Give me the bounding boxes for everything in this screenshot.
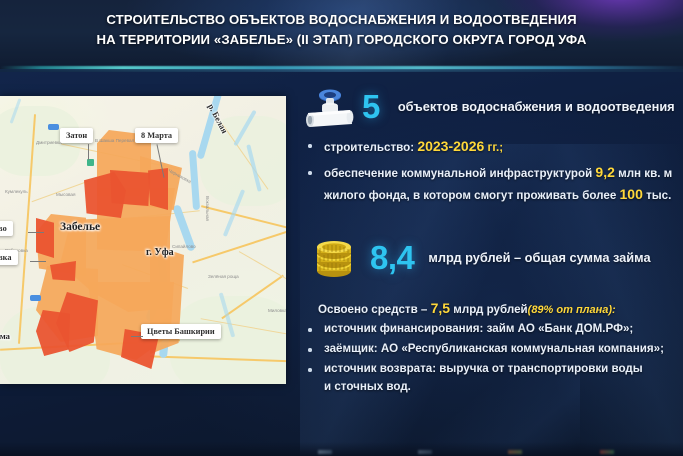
bullet-funding-source: источник финансирования: займ АО «Банк Д…: [324, 322, 633, 335]
map-minor-label: Сипайлово: [172, 244, 196, 249]
bullet-marker: [308, 328, 312, 332]
map-image: Дмитриевка В Шакша Перевал Кумлекуль Мыс…: [0, 96, 286, 384]
bullet-housing-value: 100: [620, 186, 643, 202]
map-minor-label: Дмитриевка: [36, 140, 62, 145]
bullet-borrower: заёмщик: АО «Республиканская коммунальна…: [324, 342, 664, 355]
map-minor-label: Вокзальная: [205, 196, 210, 221]
bullet-marker: [308, 171, 312, 175]
map-minor-label: В Шакша Перевал: [95, 138, 134, 143]
funds-released-value: 7,5: [431, 300, 450, 316]
funds-released-pre: Освоено средств –: [318, 303, 431, 316]
content-panel: 5 объектов водоснабжения и водоотведения…: [292, 78, 683, 456]
stat-loan-value: 8,4: [370, 241, 414, 274]
bullet-infrastructure-value: 9,2: [595, 164, 614, 180]
bullet-repayment-source-line2: и сточных вод.: [324, 380, 411, 393]
bullet-construction-post: гг.;: [484, 141, 503, 154]
video-artifact: [600, 450, 614, 454]
slide-header: СТРОИТЕЛЬСТВО ОБЪЕКТОВ ВОДОСНАБЖЕНИЯ И В…: [0, 0, 683, 72]
map-callout-zaton: Затон: [60, 128, 93, 143]
map-place-label-dyoma: ёма: [0, 331, 10, 341]
map-marker-green: [87, 159, 94, 166]
map-minor-label: Миловка: [268, 308, 286, 313]
coin-stack-icon: [312, 241, 356, 281]
map-callout-nikovo: никово: [0, 221, 13, 236]
page-title: СТРОИТЕЛЬСТВО ОБЪЕКТОВ ВОДОСНАБЖЕНИЯ И В…: [0, 10, 683, 50]
bottom-fade: [0, 442, 683, 456]
map-route-badge: [48, 124, 59, 130]
stat-loan-label: млрд рублей – общая сумма займа: [428, 250, 650, 265]
video-artifact: [318, 450, 332, 454]
stat-objects-label: объектов водоснабжения и водоотведения: [398, 99, 675, 114]
map-callout-leader: [131, 336, 143, 337]
bullet-housing-pre: жилого фонда, в котором смогут проживать…: [324, 189, 620, 202]
bullet-infrastructure-post: млн кв. м: [615, 167, 672, 180]
map-minor-label: Мысовая: [56, 192, 75, 197]
funds-released-note: (89% от плана):: [528, 304, 616, 316]
bullet-marker: [308, 144, 312, 148]
bullet-infrastructure-pre: обеспечение коммунальной инфраструктурой: [324, 167, 595, 180]
map-route-badge: [30, 295, 41, 301]
map-place-label-ufa: г. Уфа: [146, 247, 174, 258]
map-callout-leader: [30, 261, 46, 262]
map-callout-leader: [88, 144, 89, 160]
stat-objects: 5 объектов водоснабжения и водоотведения: [362, 90, 675, 123]
bullet-marker: [308, 348, 312, 352]
funds-released-line: Освоено средств – 7,5 млрд рублей(89% от…: [318, 300, 616, 316]
bullet-construction-pre: строительство:: [324, 141, 417, 154]
map-minor-label: Кумлекуль: [5, 189, 28, 194]
bullet-construction-value: 2023-2026: [417, 138, 484, 154]
stat-objects-value: 5: [362, 90, 380, 123]
water-pipe-valve-icon: [300, 88, 358, 132]
map-zone-red: [110, 170, 150, 206]
map-callout-tsvety-bashkirii: Цветы Башкирии: [141, 324, 221, 339]
bullet-infrastructure-line2: жилого фонда, в котором смогут проживать…: [324, 186, 671, 202]
bullet-repayment-source: источник возврата: выручка от транспорти…: [324, 362, 643, 375]
bullet-housing-post: тыс.: [643, 189, 671, 202]
funds-released-mid: млрд рублей: [450, 303, 528, 316]
map-place-label-zabelye: Забелье: [60, 221, 100, 233]
bullet-construction-period: строительство: 2023-2026 гг.;: [324, 138, 503, 154]
stat-loan: 8,4 млрд рублей – общая сумма займа: [370, 241, 651, 274]
map-zone-red: [148, 168, 168, 210]
map-callout-8marta: 8 Марта: [135, 128, 178, 143]
bullet-infrastructure: обеспечение коммунальной инфраструктурой…: [324, 164, 672, 180]
slide-root: СТРОИТЕЛЬСТВО ОБЪЕКТОВ ВОДОСНАБЖЕНИЯ И В…: [0, 0, 683, 456]
bullet-marker: [308, 368, 312, 372]
video-artifact: [418, 450, 432, 454]
map-callout-zanovka: зановка: [0, 250, 18, 265]
video-artifact: [508, 450, 522, 454]
map-callout-leader: [28, 232, 44, 233]
map-zone-red: [36, 218, 54, 258]
map-minor-label: Зелёная роща: [208, 274, 239, 279]
